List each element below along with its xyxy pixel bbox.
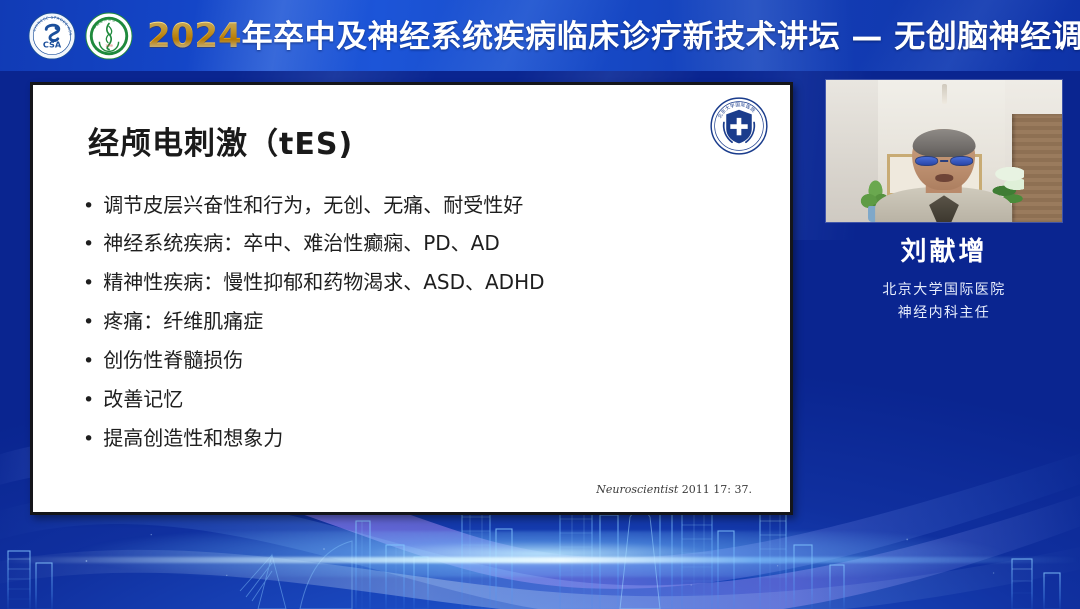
presentation-slide: 北京大学国际医院 经颅电刺激（tES) • 调节皮层兴奋性和行为，无创、无痛、耐… [30,82,793,515]
speaker-affiliation: 北京大学国际医院 [826,279,1062,302]
speaker-name: 刘献增 [826,238,1062,267]
glasses-bridge [940,160,948,162]
green-medical-association-logo: 中国医师协会 1988 [85,12,133,60]
speaker-hair [913,129,976,157]
citation-details: 2011 17: 37. [678,483,752,496]
slide-title: 经颅电刺激（tES) [88,118,353,163]
bullet-text: 创伤性脊髓损伤 [103,350,243,370]
bullet-item: • 神经系统疾病：卒中、难治性癫痫、PD、AD [83,233,773,254]
bullet-marker-icon: • [83,197,94,216]
bullet-text: 改善记忆 [103,389,183,409]
bullet-marker-icon: • [83,352,94,371]
bullet-item: • 精神性疾病：慢性抑郁和药物渴求、ASD、ADHD [83,272,773,293]
speaker-info-panel: 刘献增 北京大学国际医院 神经内科主任 [826,238,1062,325]
event-title-year: 2024 [147,16,242,56]
slide-bullet-list: • 调节皮层兴奋性和行为，无创、无痛、耐受性好 • 神经系统疾病：卒中、难治性癫… [83,195,773,467]
glasses-lens-right [950,156,973,166]
bullet-marker-icon: • [83,430,94,449]
svg-text:CSA: CSA [43,39,62,49]
speaker-glasses [915,156,973,166]
slide-citation: Neuroscientist 2011 17: 37. [596,483,752,496]
webcam-room-background [826,80,1062,222]
bullet-item: • 改善记忆 [83,389,773,410]
speaker-head [913,129,976,190]
bullet-marker-icon: • [83,313,94,332]
event-title: 2024年卒中及神经系统疾病临床诊疗新技术讲坛 — 无创脑神经调控 [147,19,1080,53]
speaker-position: 神经内科主任 [826,302,1062,325]
bullet-item: • 调节皮层兴奋性和行为，无创、无痛、耐受性好 [83,195,773,216]
bullet-text: 提高创造性和想象力 [103,428,283,448]
peking-university-international-hospital-logo: 北京大学国际医院 [710,97,768,155]
bullet-item: • 疼痛：纤维肌痛症 [83,311,773,332]
bullet-marker-icon: • [83,274,94,293]
speaker-person [876,120,1013,222]
bullet-text: 神经系统疾病：卒中、难治性癫痫、PD、AD [103,233,500,253]
bullet-marker-icon: • [83,235,94,254]
speaker-webcam-feed[interactable] [826,80,1062,222]
bullet-item: • 创伤性脊髓损伤 [83,350,773,371]
bullet-marker-icon: • [83,391,94,410]
bullet-text: 精神性疾病：慢性抑郁和药物渴求、ASD、ADHD [103,272,544,292]
bullet-text: 调节皮层兴奋性和行为，无创、无痛、耐受性好 [103,195,523,215]
bullet-item: • 提高创造性和想象力 [83,428,773,449]
ceiling-lamp [942,84,947,104]
slide-title-english: （tES) [248,127,353,162]
glasses-lens-left [915,156,938,166]
event-title-text: 年卒中及神经系统疾病临床诊疗新技术讲坛 — 无创脑神经调控 [242,19,1080,55]
chinese-stroke-association-logo: CSA CHINESE STROKE ASSOCIATION [28,12,76,60]
bullet-text: 疼痛：纤维肌痛症 [103,311,263,331]
event-header-banner: CSA CHINESE STROKE ASSOCIATION 中国医师协会 19… [0,0,1080,71]
speaker-mouth [935,174,953,181]
citation-journal: Neuroscientist [596,483,678,496]
slide-title-chinese: 经颅电刺激 [88,126,248,162]
svg-text:1988: 1988 [105,43,112,47]
